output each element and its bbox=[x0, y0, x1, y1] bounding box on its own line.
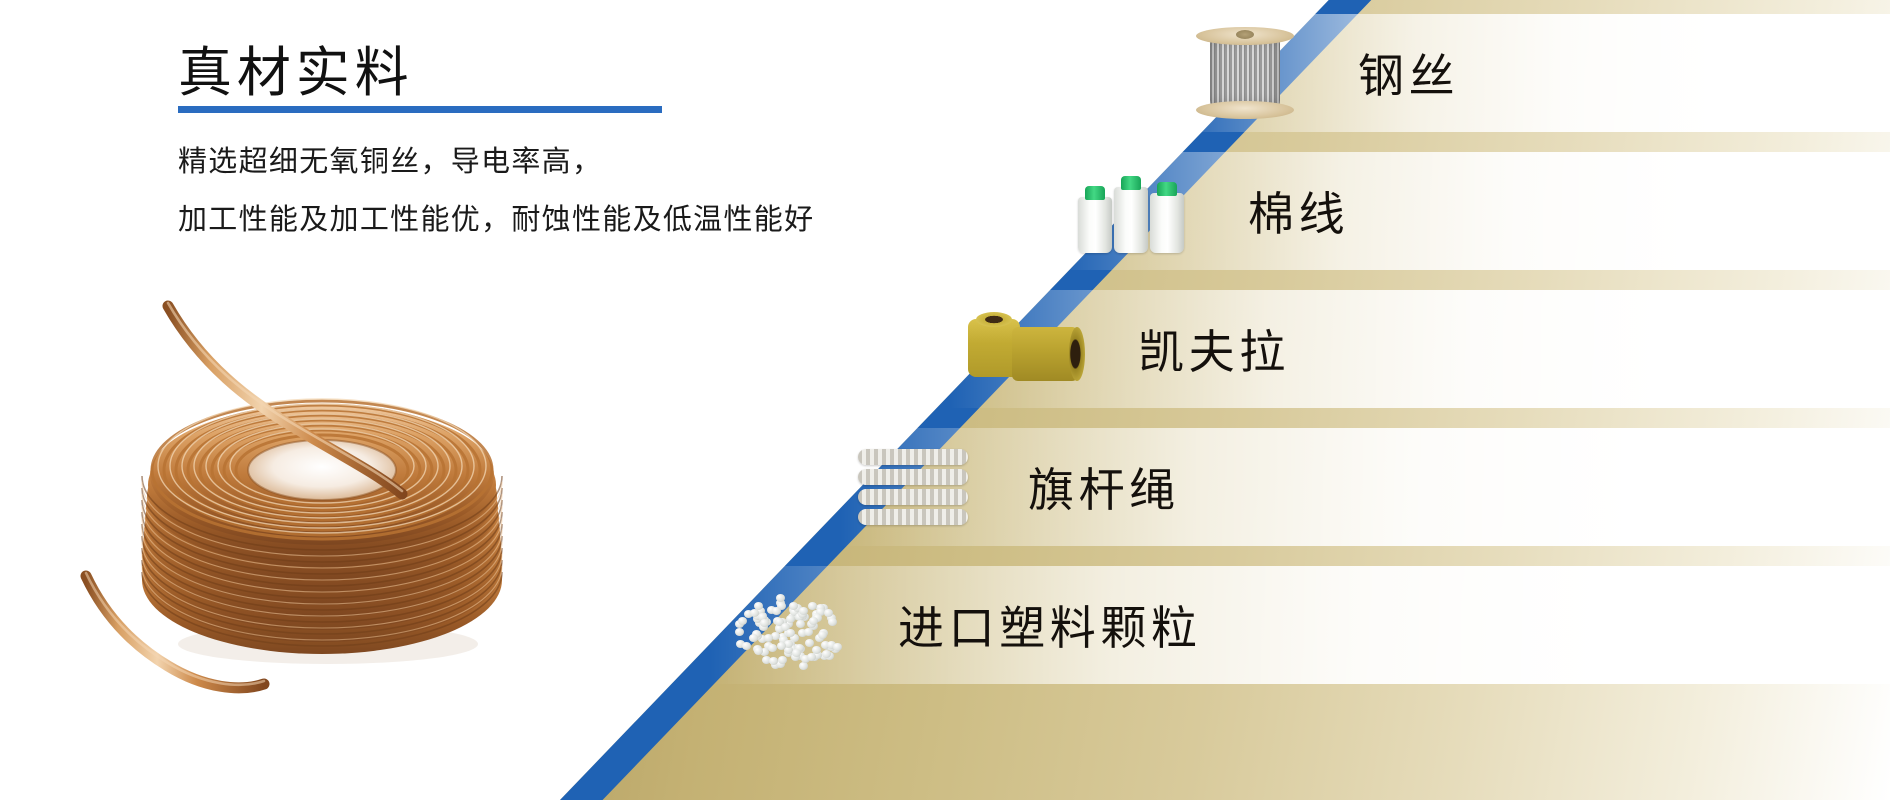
material-label: 棉线 bbox=[1248, 178, 1349, 244]
material-label: 凯夫拉 bbox=[1138, 316, 1290, 382]
copper-coil-illustration bbox=[50, 280, 610, 710]
copper-wire-coil bbox=[50, 280, 610, 710]
material-label: 钢丝 bbox=[1358, 40, 1459, 106]
description-line-2: 加工性能及加工性能优，耐蚀性能及低温性能好 bbox=[178, 196, 814, 238]
materials-banner: 钢丝 棉线 凯夫拉 旗杆绳 bbox=[0, 0, 1890, 800]
material-label: 旗杆绳 bbox=[1028, 454, 1180, 520]
left-content: 真材实料 精选超细无氧铜丝，导电率高， 加工性能及加工性能优，耐蚀性能及低温性能… bbox=[0, 0, 950, 800]
material-row-cotton-thread[interactable]: 棉线 bbox=[1060, 152, 1890, 270]
material-row-steel-wire[interactable]: 钢丝 bbox=[1170, 14, 1890, 132]
cotton-thread-cones-icon bbox=[1060, 155, 1210, 267]
kevlar-roll-icon bbox=[950, 293, 1100, 405]
material-row-kevlar[interactable]: 凯夫拉 bbox=[950, 290, 1890, 408]
title-underline bbox=[178, 106, 662, 113]
steel-wire-spool-icon bbox=[1170, 17, 1320, 129]
description-line-1: 精选超细无氧铜丝，导电率高， bbox=[178, 138, 602, 180]
page-title: 真材实料 bbox=[178, 28, 413, 107]
material-row-flagpole-rope[interactable]: 旗杆绳 bbox=[840, 428, 1890, 546]
